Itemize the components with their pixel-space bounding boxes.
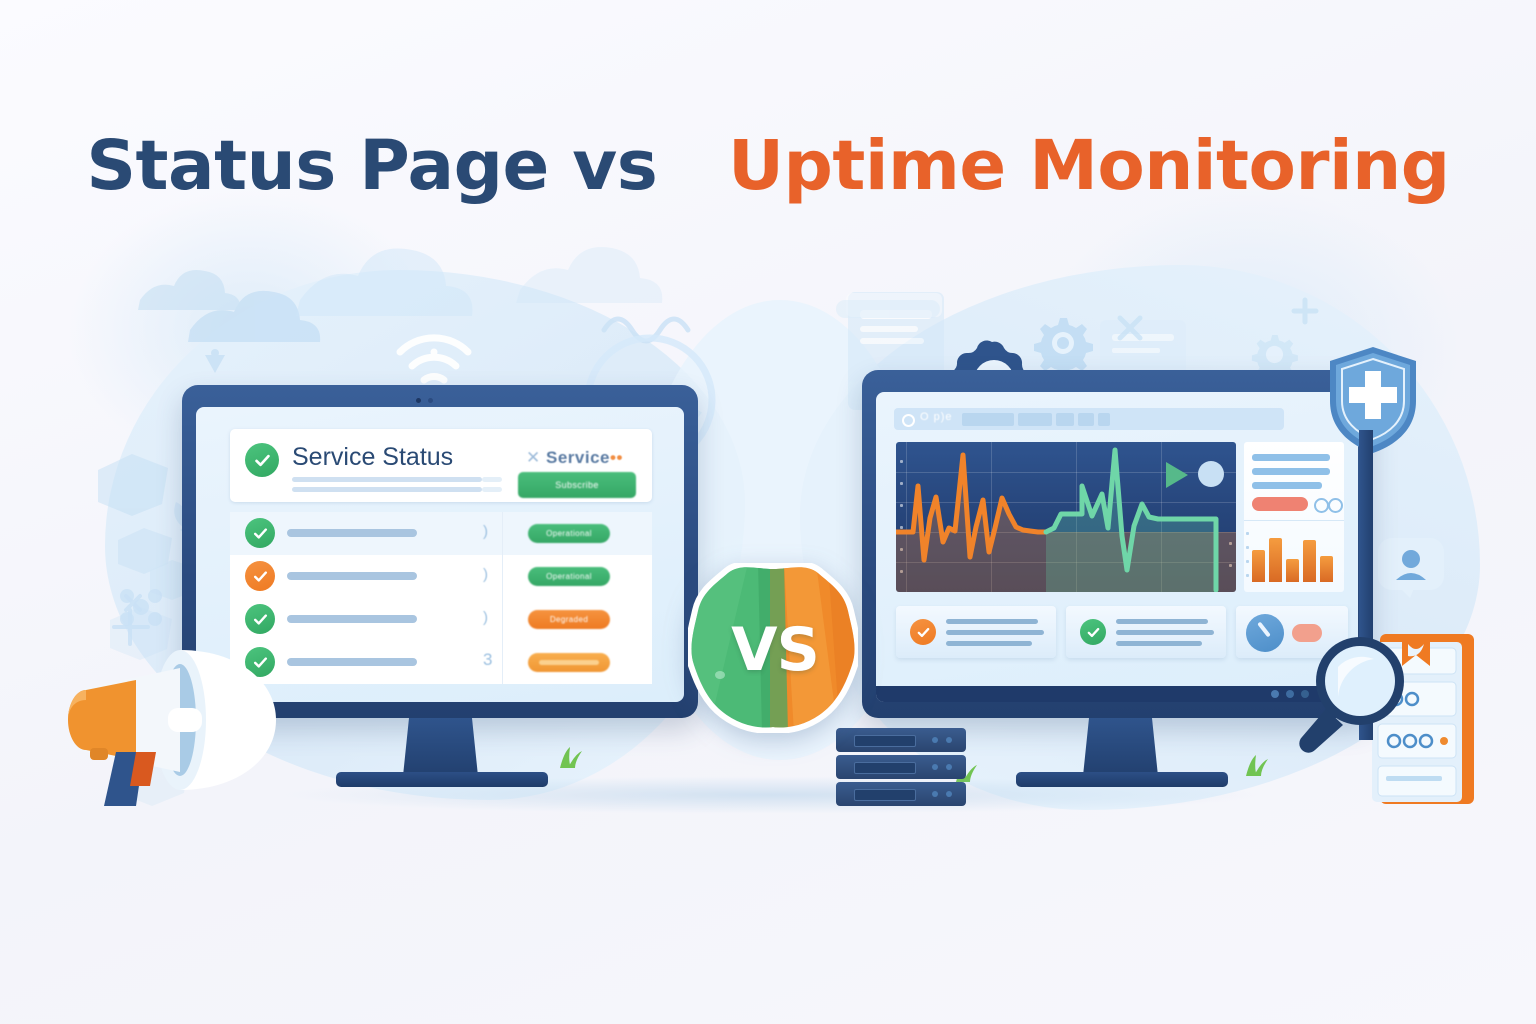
status-header-card: Service Status ✕ X Service Service•• Sub… <box>230 429 652 502</box>
response-time-chart <box>896 442 1236 592</box>
monitor-base-left <box>336 772 548 787</box>
table-row[interactable]: ) Operational <box>230 512 652 556</box>
page-title-right: Uptime Monitoring <box>728 126 1450 206</box>
info-card[interactable] <box>1066 606 1226 658</box>
play-marker-icon <box>1166 462 1188 488</box>
status-badge: Operational <box>528 524 610 543</box>
megaphone-icon <box>60 620 340 820</box>
status-dot-icon <box>1198 461 1224 487</box>
browser-tab-label: O p)e <box>920 411 953 423</box>
brand-mark: ✕ X Service Service•• <box>526 448 623 468</box>
check-circle-icon <box>245 561 275 591</box>
monitor-neck-right <box>1083 718 1158 776</box>
browser-dot <box>902 414 915 427</box>
row-value: ) <box>483 566 488 583</box>
browser-bar[interactable]: O p)e <box>894 408 1284 430</box>
bar <box>1303 540 1316 582</box>
accent-pill <box>1252 497 1308 511</box>
bar <box>1269 538 1282 582</box>
row-value: ) <box>483 523 488 540</box>
metrics-side-panel <box>1244 442 1344 592</box>
subscribe-button[interactable]: Subscribe <box>518 472 636 498</box>
check-circle-icon <box>245 518 275 548</box>
bar <box>1252 550 1265 582</box>
camera-dot <box>416 398 421 403</box>
page-title-left: Status Page vs <box>86 126 657 206</box>
check-circle-icon <box>245 443 279 477</box>
status-badge: Operational <box>528 567 610 586</box>
gauge-icon <box>1246 614 1284 652</box>
shield-check-icon <box>1326 345 1420 455</box>
magnifier-icon <box>1286 625 1416 760</box>
check-circle-icon <box>910 619 936 645</box>
vs-badge-label: VS <box>690 565 860 735</box>
check-circle-icon <box>1080 619 1106 645</box>
monitor-base-right <box>1016 772 1228 787</box>
row-value: ) <box>483 609 488 626</box>
info-card[interactable] <box>896 606 1056 658</box>
monitor-neck-left <box>403 718 478 776</box>
camera-dot <box>428 398 433 403</box>
status-badge: Degraded <box>528 610 610 629</box>
server-unit <box>836 755 966 779</box>
server-stack-icon <box>836 728 966 808</box>
row-value: 3 <box>483 650 492 670</box>
vs-badge: VS <box>688 563 858 733</box>
table-row[interactable]: ) Operational <box>230 555 652 599</box>
bar <box>1286 559 1299 582</box>
status-page-heading: Service Status <box>292 443 453 472</box>
status-badge <box>528 653 610 672</box>
bar <box>1320 556 1333 582</box>
page-title: Status Page vs Uptime Monitoring <box>0 126 1536 206</box>
illustration-canvas: Status Page vs Uptime Monitoring Service… <box>0 0 1536 1024</box>
server-unit <box>836 782 966 806</box>
